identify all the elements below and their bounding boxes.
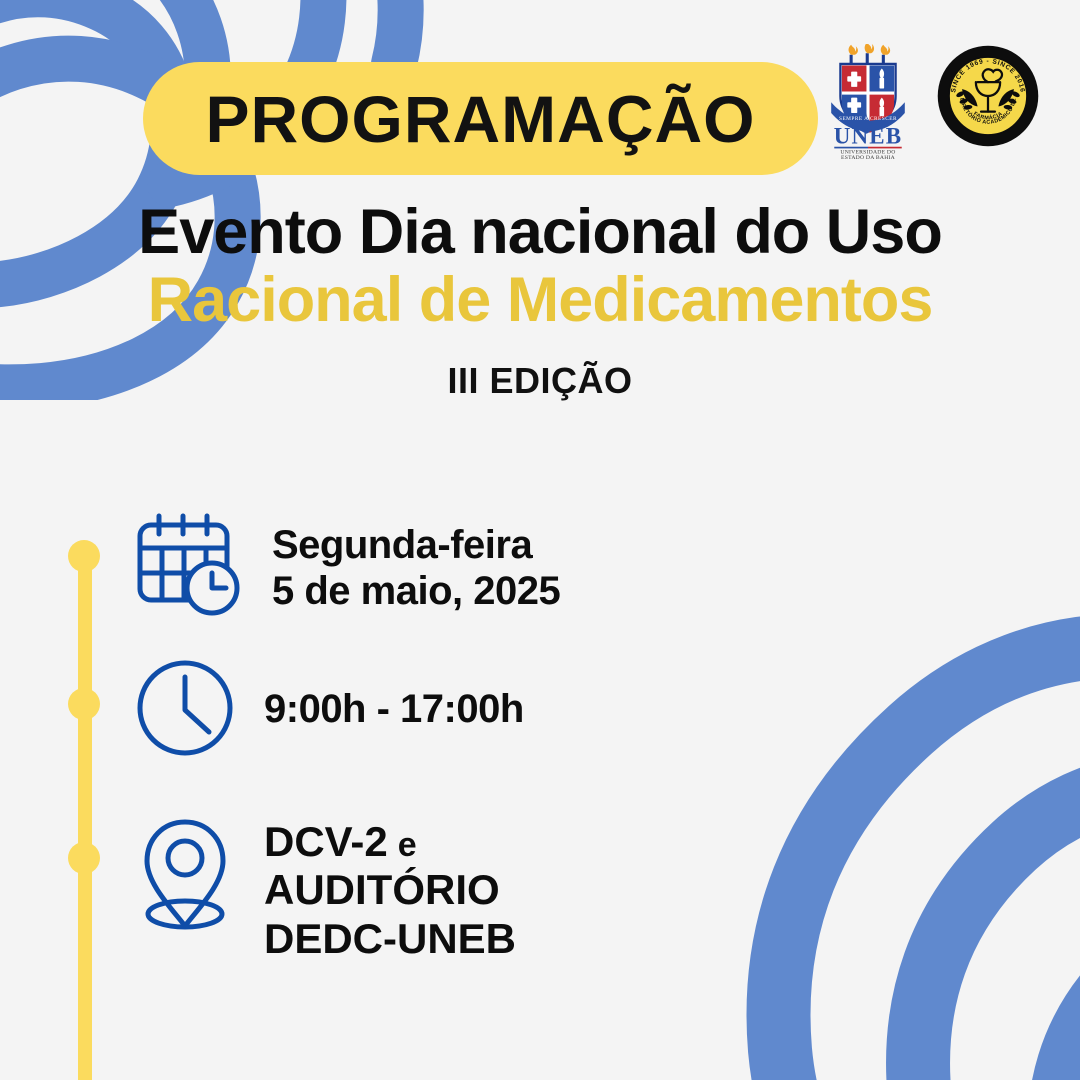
place-line-3: DEDC-UNEB bbox=[264, 915, 516, 963]
event-title-line-1: Evento Dia nacional do Uso bbox=[0, 198, 1080, 266]
timeline-line bbox=[78, 554, 92, 1080]
place-line-1: DCV-2e bbox=[264, 818, 516, 866]
place-conjunction: e bbox=[388, 826, 417, 864]
event-edition-subtitle: III EDIÇÃO bbox=[0, 360, 1080, 402]
detail-text-time: 9:00h - 17:00h bbox=[244, 656, 524, 732]
timeline-dot-time bbox=[68, 688, 100, 720]
timeline-dot-place bbox=[68, 842, 100, 874]
diretorio-academico-farmacia-logo: SINCE 1969 - SINCE 2016 bbox=[936, 44, 1040, 148]
detail-row-time: 9:00h - 17:00h bbox=[126, 656, 746, 760]
clock-icon bbox=[133, 656, 237, 760]
detail-icon-wrapper-time bbox=[126, 656, 244, 760]
date-full: 5 de maio, 2025 bbox=[272, 568, 560, 614]
svg-text:SEMPRE A CRESCER: SEMPRE A CRESCER bbox=[839, 116, 897, 122]
logos-group: SEMPRE A CRESCER UNEB UNIVERSIDADE DO ES… bbox=[822, 44, 1040, 159]
place-room: DCV-2 bbox=[264, 818, 388, 865]
detail-row-date: Segunda-feira 5 de maio, 2025 bbox=[126, 512, 746, 620]
title-block: Evento Dia nacional do Uso Racional de M… bbox=[0, 198, 1080, 402]
place-line-2: AUDITÓRIO bbox=[264, 866, 516, 914]
location-pin-icon bbox=[133, 814, 237, 936]
svg-text:ESTADO DA BAHIA: ESTADO DA BAHIA bbox=[841, 155, 896, 159]
detail-text-place: DCV-2e AUDITÓRIO DEDC-UNEB bbox=[244, 814, 516, 963]
event-details-list: Segunda-feira 5 de maio, 2025 9:00h - 17… bbox=[126, 512, 746, 999]
detail-icon-wrapper-place bbox=[126, 814, 244, 936]
banner-label: PROGRAMAÇÃO bbox=[206, 86, 756, 152]
detail-text-date: Segunda-feira 5 de maio, 2025 bbox=[252, 512, 560, 614]
detail-icon-wrapper-date bbox=[126, 512, 252, 620]
event-title-line-2: Racional de Medicamentos bbox=[0, 266, 1080, 334]
uneb-logo: SEMPRE A CRESCER UNEB UNIVERSIDADE DO ES… bbox=[822, 44, 914, 159]
programacao-banner: PROGRAMAÇÃO bbox=[143, 62, 818, 175]
event-poster: PROGRAMAÇÃO bbox=[0, 0, 1080, 1080]
timeline-dot-date bbox=[68, 540, 100, 572]
time-range: 9:00h - 17:00h bbox=[264, 686, 524, 732]
timeline-spine bbox=[68, 536, 100, 1080]
uneb-acronym: UNEB bbox=[834, 124, 903, 149]
date-weekday: Segunda-feira bbox=[272, 522, 560, 568]
detail-row-place: DCV-2e AUDITÓRIO DEDC-UNEB bbox=[126, 814, 746, 963]
calendar-clock-icon bbox=[133, 512, 245, 620]
